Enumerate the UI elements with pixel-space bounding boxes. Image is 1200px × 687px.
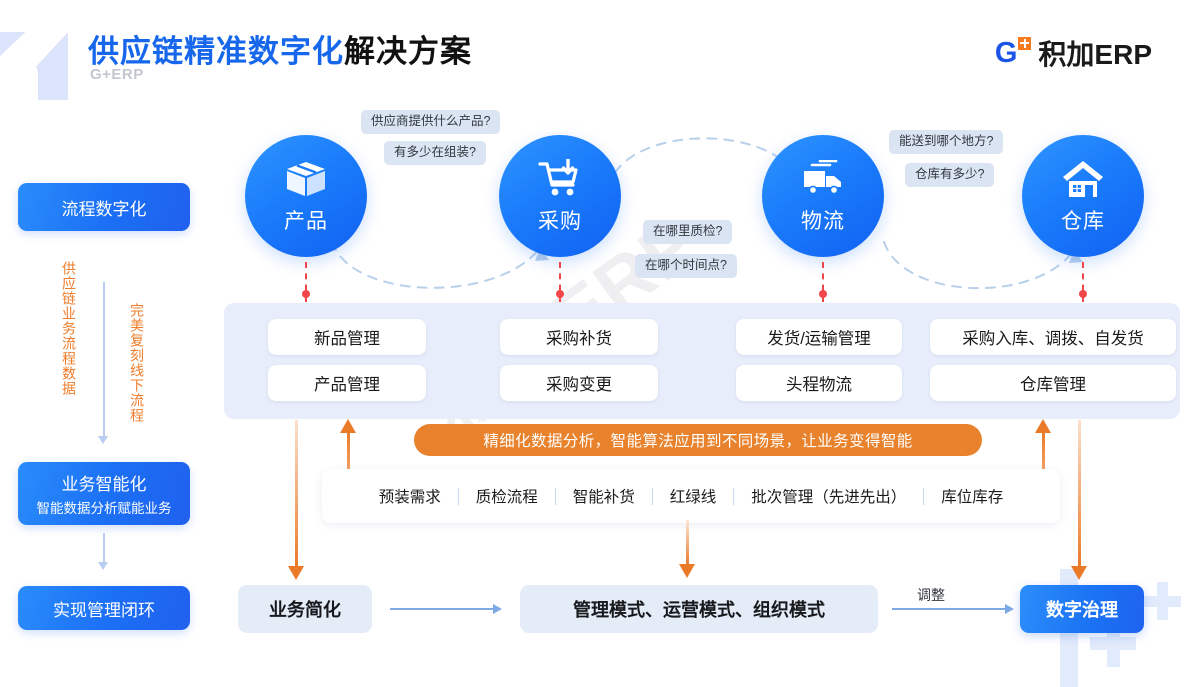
bottom-arrow-label: 调整 [917, 585, 945, 605]
drop-dot-3 [819, 290, 827, 298]
bottom-box-simplify[interactable]: 业务简化 [238, 585, 372, 633]
feature-item[interactable]: 质检流程 [459, 485, 555, 507]
brand-logo: G 积加ERP [995, 33, 1152, 73]
rail-box-3-label: 实现管理闭环 [53, 596, 155, 621]
capability-chip[interactable]: 采购入库、调拨、自发货 [930, 319, 1176, 355]
bottom-arrow-1 [390, 604, 502, 614]
decorative-plus-icon [1157, 582, 1168, 620]
drop-dot-1 [302, 290, 310, 298]
drop-dot-2 [556, 290, 564, 298]
feature-item[interactable]: 预装需求 [362, 485, 458, 507]
capability-chip[interactable]: 产品管理 [268, 365, 426, 401]
flow-node-purchase-label: 采购 [538, 205, 582, 235]
shopping-cart-icon [537, 158, 583, 200]
rail-arrowhead-1 [98, 436, 108, 444]
rail-vertical-label-1: 供应链业务流程数据 [60, 241, 77, 416]
box-icon [283, 158, 329, 200]
question-bubble-3: 在哪里质检? [643, 220, 732, 244]
flow-node-warehouse-label: 仓库 [1061, 205, 1105, 235]
capability-chip[interactable]: 新品管理 [268, 319, 426, 355]
rail-box-1[interactable]: 流程数字化 [18, 183, 190, 231]
question-bubble-2: 有多少在组装? [384, 141, 486, 165]
flow-node-purchase[interactable]: 采购 [499, 135, 621, 257]
flow-node-warehouse[interactable]: 仓库 [1022, 135, 1144, 257]
rail-box-2-sublabel: 智能数据分析赋能业务 [37, 497, 172, 517]
question-bubble-4: 在哪个时间点? [635, 254, 737, 278]
flow-node-product[interactable]: 产品 [245, 135, 367, 257]
feature-item[interactable]: 智能补货 [556, 485, 652, 507]
orange-arrow-down-center [679, 520, 695, 578]
flow-node-product-label: 产品 [284, 205, 328, 235]
page-title-rest: 解决方案 [344, 34, 472, 69]
delivery-truck-icon [800, 158, 846, 200]
page-title-highlight: 供应链精准数字化 [88, 34, 344, 69]
capability-chip[interactable]: 采购补货 [500, 319, 658, 355]
feature-item[interactable]: 库位库存 [924, 485, 1020, 507]
question-bubble-6: 仓库有多少? [905, 163, 994, 187]
page-subtitle: G+ERP [90, 66, 144, 83]
flow-node-logistics[interactable]: 物流 [762, 135, 884, 257]
rail-arrowhead-2 [98, 562, 108, 570]
logo-plus-icon [1018, 37, 1031, 50]
orange-arrow-up-right [1035, 419, 1051, 475]
bottom-arrow-2 [892, 604, 1014, 614]
warehouse-home-icon [1060, 158, 1106, 200]
feature-strip: 预装需求 质检流程 智能补货 红绿线 批次管理（先进先出） 库位库存 [322, 469, 1060, 523]
logo-mark: G [995, 39, 1018, 68]
rail-box-1-label: 流程数字化 [62, 195, 147, 220]
rail-box-2[interactable]: 业务智能化 智能数据分析赋能业务 [18, 462, 190, 525]
orange-arrow-down-right [1071, 420, 1087, 580]
rail-connector-1 [103, 282, 105, 438]
feature-item[interactable]: 批次管理（先进先出） [734, 485, 923, 507]
bottom-box-governance[interactable]: 数字治理 [1020, 585, 1144, 633]
rail-box-3[interactable]: 实现管理闭环 [18, 586, 190, 630]
capability-chip[interactable]: 头程物流 [736, 365, 902, 401]
capability-chip[interactable]: 发货/运输管理 [736, 319, 902, 355]
capability-chip[interactable]: 仓库管理 [930, 365, 1176, 401]
question-bubble-1: 供应商提供什么产品? [361, 110, 500, 134]
question-bubble-5: 能送到哪个地方? [889, 130, 1003, 154]
drop-dot-4 [1079, 290, 1087, 298]
rail-box-2-label: 业务智能化 [62, 470, 147, 495]
highlight-banner: 精细化数据分析，智能算法应用到不同场景，让业务变得智能 [414, 424, 982, 456]
infographic-canvas: 积加ERP 供应链精准数字化解决方案 G+ERP G 积加ERP 流程数字化 供… [0, 0, 1200, 687]
bottom-box-models[interactable]: 管理模式、运营模式、组织模式 [520, 585, 878, 633]
logo-text: 积加ERP [1038, 33, 1152, 73]
page-header: 供应链精准数字化解决方案 G+ERP G 积加ERP [0, 0, 1200, 100]
orange-arrow-down-left [288, 420, 304, 580]
flow-node-logistics-label: 物流 [801, 205, 845, 235]
page-title: 供应链精准数字化解决方案 [88, 26, 472, 71]
capability-chip[interactable]: 采购变更 [500, 365, 658, 401]
rail-connector-2 [103, 533, 105, 564]
capability-panel: 新品管理 产品管理 采购补货 采购变更 发货/运输管理 头程物流 采购入库、调拨… [224, 303, 1180, 419]
rail-vertical-label-2: 完美复刻线下流程 [128, 275, 145, 450]
feature-item[interactable]: 红绿线 [653, 485, 734, 507]
orange-arrow-up-left [340, 419, 356, 475]
